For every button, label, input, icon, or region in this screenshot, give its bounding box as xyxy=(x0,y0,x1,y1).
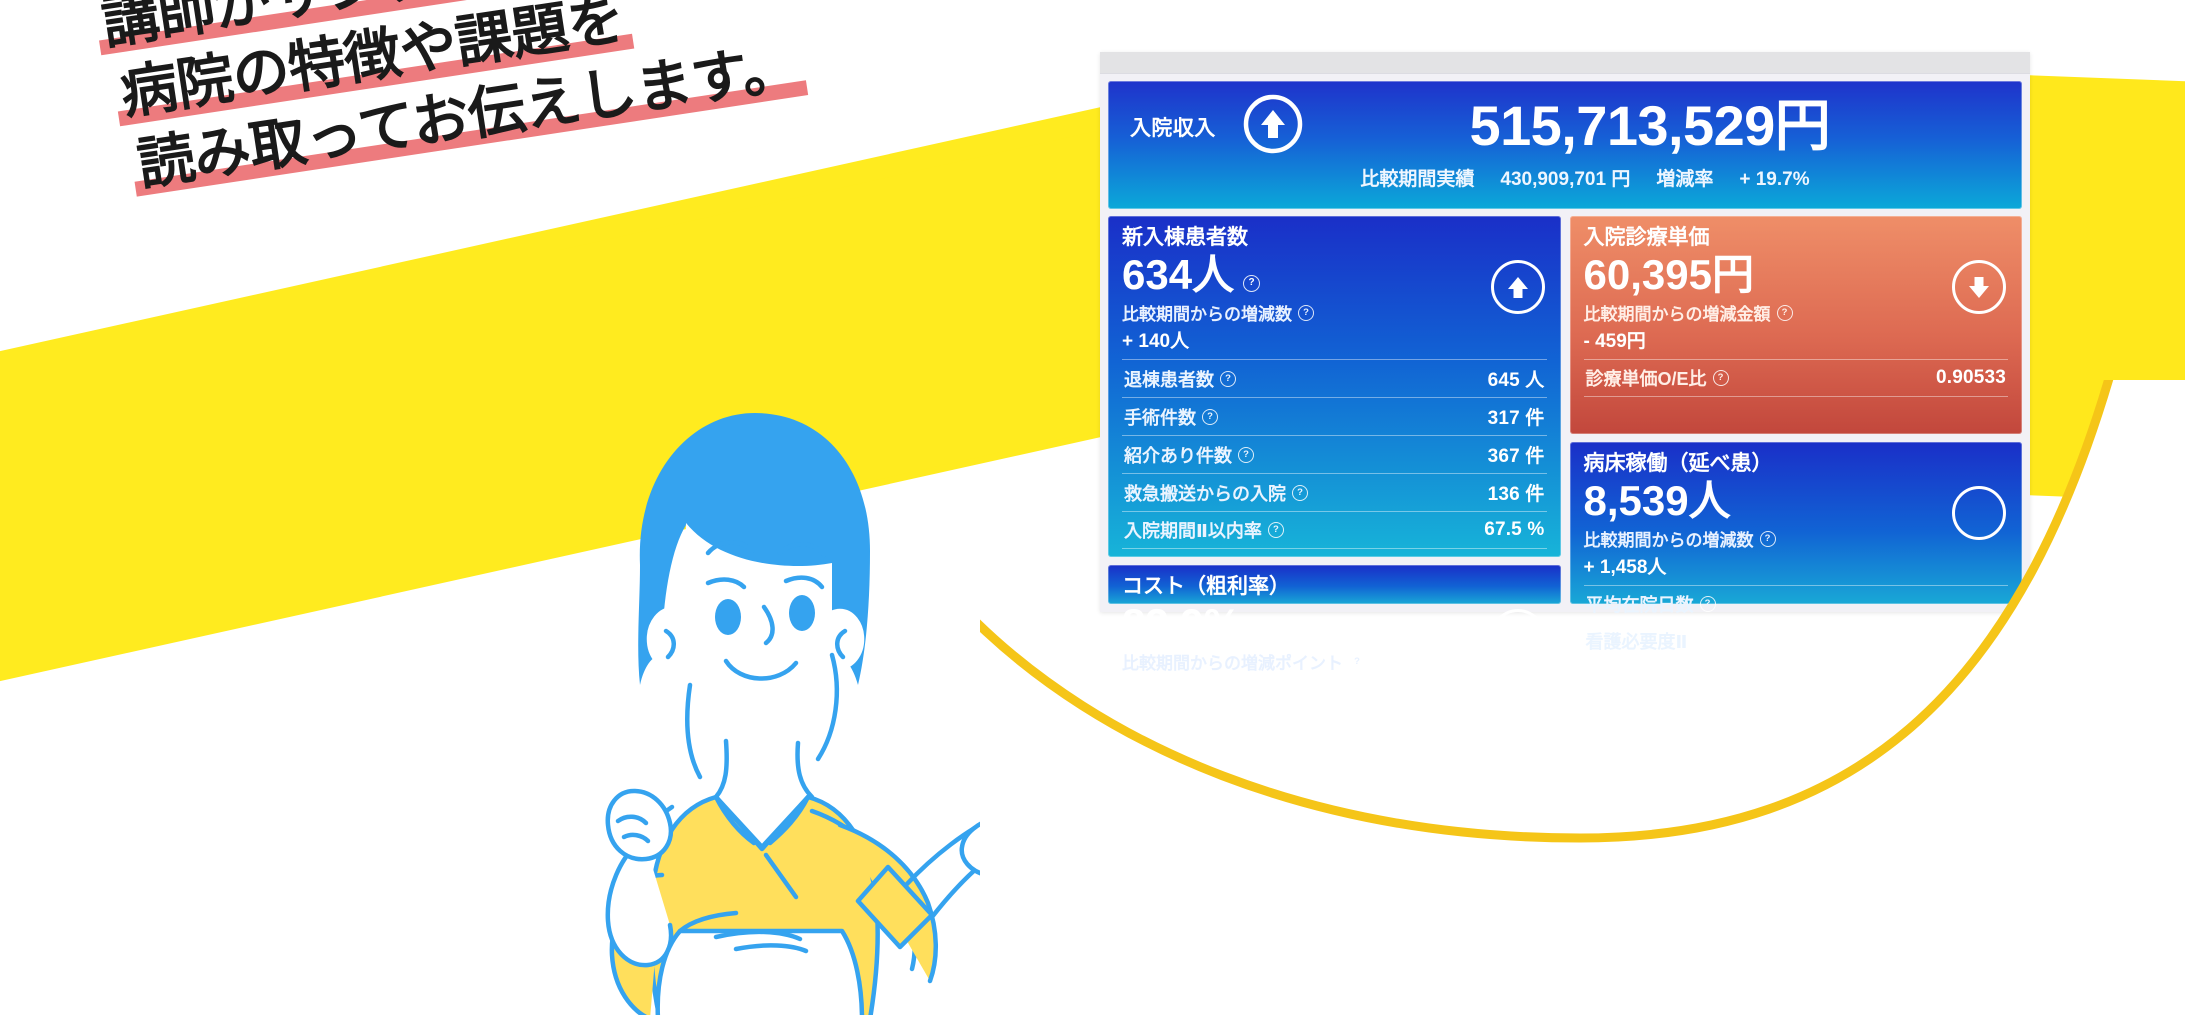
table-row[interactable]: 看護必要度Ⅱ xyxy=(1584,622,2009,659)
card-title: コスト（粗利率） xyxy=(1122,574,1547,599)
help-icon[interactable]: ? xyxy=(1700,596,1716,612)
table-row[interactable]: 手術件数? 317 件 xyxy=(1122,397,1547,435)
hero-value: 515,713,529円 xyxy=(1330,97,1970,155)
row-label: 入院期間Ⅱ以内率 xyxy=(1124,517,1262,543)
card-sub-label-row: 比較期間からの増減数 ? xyxy=(1122,300,1547,325)
card-value: 634人 xyxy=(1122,251,1234,298)
kpi-card-inpatient-unit-price[interactable]: 入院診療単価 60,395円 比較期間からの増減金額 ? - 459円 xyxy=(1570,216,2023,434)
hero-compare-label: 比較期間実績 xyxy=(1360,164,1474,191)
card-sub-label-row: 比較期間からの増減ポイント ? xyxy=(1122,649,1547,674)
kpi-column-right: 入院診療単価 60,395円 比較期間からの増減金額 ? - 459円 xyxy=(1570,216,2023,604)
help-icon[interactable]: ? xyxy=(1777,305,1793,321)
hero-rate-label: 増減率 xyxy=(1656,164,1713,191)
dashboard-window[interactable]: 入院収入 515,713,529円 比較期間実績 430,909,701 円 増… xyxy=(1100,52,2030,612)
kpi-columns: 新入棟患者数 634人 ? 比較期間からの増減数 ? + 140人 xyxy=(1108,216,2022,604)
metric-rows: 退棟患者数? 645 人 手術件数? 317 件 紹介あり件数? 367 件 xyxy=(1122,359,1547,549)
kpi-card-new-ward-patients[interactable]: 新入棟患者数 634人 ? 比較期間からの増減数 ? + 140人 xyxy=(1108,216,1561,557)
card-value-row: 8,539人 xyxy=(1584,477,2009,524)
kpi-card-inpatient-revenue[interactable]: 入院収入 515,713,529円 比較期間実績 430,909,701 円 増… xyxy=(1108,81,2022,209)
presenter-illustration xyxy=(540,355,1060,1015)
row-label: 診療単価O/E比 xyxy=(1586,365,1707,391)
kpi-column-left: 新入棟患者数 634人 ? 比較期間からの増減数 ? + 140人 xyxy=(1108,216,1561,604)
help-icon[interactable]: ? xyxy=(1349,654,1365,670)
arrow-down-circle-icon xyxy=(1952,260,2006,314)
table-row[interactable]: 紹介あり件数? 367 件 xyxy=(1122,435,1547,473)
card-value-row: 60,395円 xyxy=(1584,251,2009,298)
kpi-card-cost-gross-margin[interactable]: コスト（粗利率） 83.9% ? 比較期間からの増減ポイント ? + 0.5pt xyxy=(1108,565,1561,604)
card-title: 病床稼働（延べ患） xyxy=(1584,451,2009,476)
help-icon[interactable]: ? xyxy=(1292,485,1308,501)
row-value: 645 人 xyxy=(1488,365,1545,392)
help-icon[interactable]: ? xyxy=(1268,522,1284,538)
card-value: 8,539人 xyxy=(1584,477,1731,524)
card-sub-label: 比較期間からの増減ポイント xyxy=(1122,649,1343,674)
slide-canvas: 講師がサンプルデータから、 病院の特徴や課題を 読み取ってお伝えします。 xyxy=(0,0,2185,1009)
table-row[interactable]: 入院期間Ⅱ以内率? 67.5 % xyxy=(1122,511,1547,549)
metric-rows: 診療単価O/E比? 0.90533 xyxy=(1584,359,2009,397)
table-row[interactable]: 退棟患者数? 645 人 xyxy=(1122,359,1547,397)
card-sub-value: - 459円 xyxy=(1584,326,2009,353)
row-label: 救急搬送からの入院 xyxy=(1124,480,1286,506)
row-value: 136 件 xyxy=(1488,479,1545,506)
card-sub-value: + 0.5pt xyxy=(1122,675,1547,697)
card-sub-value: + 140人 xyxy=(1122,326,1547,353)
hero-label: 入院収入 xyxy=(1130,112,1216,142)
hero-top-row: 入院収入 515,713,529円 xyxy=(1130,93,2000,160)
card-value: 83.9% xyxy=(1122,600,1241,647)
metric-rows: 平均在院日数? 看護必要度Ⅱ xyxy=(1584,585,2009,659)
card-sub-label-row: 比較期間からの増減金額 ? xyxy=(1584,300,2009,325)
arrow-up-circle-icon xyxy=(1242,93,1304,160)
row-label: 看護必要度Ⅱ xyxy=(1586,628,1688,654)
window-titlebar xyxy=(1100,52,2030,74)
row-label: 平均在院日数 xyxy=(1586,591,1694,617)
row-label: 紹介あり件数 xyxy=(1124,442,1232,468)
help-icon[interactable]: ? xyxy=(1243,275,1260,292)
card-sub-value: + 1,458人 xyxy=(1584,552,2009,579)
card-sub-label-row: 比較期間からの増減数 ? xyxy=(1584,526,2009,551)
help-icon[interactable]: ? xyxy=(1220,371,1236,387)
kpi-card-bed-utilization[interactable]: 病床稼働（延べ患） 8,539人 比較期間からの増減数 ? + 1,458人 xyxy=(1570,442,2023,604)
table-row[interactable]: 救急搬送からの入院? 136 件 xyxy=(1122,473,1547,511)
hero-compare-value: 430,909,701 円 xyxy=(1500,164,1630,191)
help-icon[interactable]: ? xyxy=(1202,409,1218,425)
card-value-row: 83.9% ? xyxy=(1122,600,1547,647)
arrow-up-circle-icon xyxy=(1491,260,1545,314)
row-label: 退棟患者数 xyxy=(1124,366,1214,392)
help-icon[interactable]: ? xyxy=(1238,447,1254,463)
card-sub-label: 比較期間からの増減数 xyxy=(1584,526,1754,551)
row-label: 手術件数 xyxy=(1124,404,1196,430)
table-row[interactable]: 診療単価O/E比? 0.90533 xyxy=(1584,359,2009,397)
help-icon[interactable] xyxy=(1952,486,2006,540)
row-value: 317 件 xyxy=(1488,403,1545,430)
row-value: 367 件 xyxy=(1488,441,1545,468)
card-title: 入院診療単価 xyxy=(1584,225,2009,250)
dashboard-body: 入院収入 515,713,529円 比較期間実績 430,909,701 円 増… xyxy=(1100,74,2030,612)
card-value-row: 634人 ? xyxy=(1122,251,1547,298)
help-icon[interactable]: ? xyxy=(1298,305,1314,321)
card-value: 60,395円 xyxy=(1584,251,1754,298)
card-sub-label: 比較期間からの増減金額 xyxy=(1584,300,1771,325)
table-row[interactable]: 平均在院日数? xyxy=(1584,585,2009,622)
row-value: 67.5 % xyxy=(1484,519,1544,541)
card-sub-label: 比較期間からの増減数 xyxy=(1122,300,1292,325)
help-icon[interactable]: ? xyxy=(1760,531,1776,547)
help-icon[interactable]: ? xyxy=(1250,624,1267,641)
help-icon[interactable]: ? xyxy=(1713,370,1729,386)
hero-subrow: 比較期間実績 430,909,701 円 増減率 + 19.7% xyxy=(1170,164,2000,191)
arrow-up-circle-icon xyxy=(1491,609,1545,663)
hero-rate-value: + 19.7% xyxy=(1739,169,1809,191)
row-value: 0.90533 xyxy=(1936,367,2006,389)
card-title: 新入棟患者数 xyxy=(1122,225,1547,250)
